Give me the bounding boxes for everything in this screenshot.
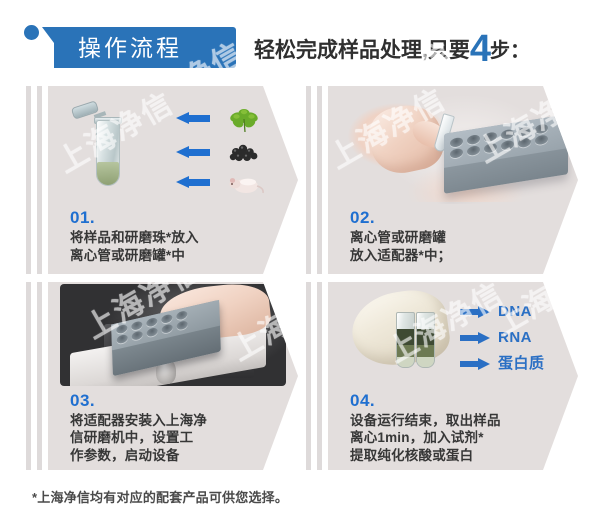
step-card-body: 上海净信 上海净信 03. 将适配器安装入上海净 信研磨机中，设置工 作参数，启… <box>48 282 298 470</box>
card-accent-bar <box>306 86 311 274</box>
step-text-04: 04. 设备运行结束，取出样品 离心1min，加入试剂* 提取纯化核酸或蛋白 <box>350 391 565 465</box>
arrow-left-icon <box>176 112 210 125</box>
card-accent-bar <box>26 282 31 470</box>
step-number: 03. <box>70 391 285 411</box>
step-number: 01. <box>70 208 285 228</box>
output-label: RNA <box>498 328 532 348</box>
output-label: 蛋白质 <box>498 354 545 374</box>
header-tagline: 轻松完成样品处理,只要4步： <box>254 30 530 70</box>
arrow-right-icon <box>460 358 490 370</box>
ribbon-dot-icon <box>24 25 39 40</box>
arrow-left-icon <box>176 176 210 189</box>
arrow-right-icon <box>460 306 490 318</box>
step-card-01: 上海净信 01. 将样品和研磨珠*放入 离心管或研磨罐*中 <box>26 86 298 274</box>
ribbon-title: 操作流程 <box>78 31 228 65</box>
adapter-holes <box>450 119 562 165</box>
card-accent-bar <box>317 282 322 470</box>
card-accent-bar <box>317 86 322 274</box>
card-accent-bar <box>37 282 42 470</box>
leaf-sample-icon <box>224 105 264 133</box>
step-media-02: 上海净信 上海净信 <box>328 86 578 204</box>
tube-liquid-icon <box>97 162 119 185</box>
step-card-03: 上海净信 上海净信 03. 将适配器安装入上海净 信研磨机中，设置工 作参数，启… <box>26 282 298 470</box>
tagline-step-count: 4 <box>470 28 490 70</box>
tagline-prefix: 轻松完成样品处理,只要 <box>254 39 470 62</box>
step-card-04: DNA RNA 蛋白质 上海净信 上海净信 04. 设备运行结束，取出样品 离心… <box>306 282 578 470</box>
step-card-02: 上海净信 上海净信 02. 离心管或研磨罐 放入适配器*中； <box>306 86 578 274</box>
step-text-02: 02. 离心管或研磨罐 放入适配器*中； <box>350 208 565 264</box>
centrifuge-tube-icon <box>88 102 128 194</box>
step-description: 设备运行结束，取出样品 离心1min，加入试剂* 提取纯化核酸或蛋白 <box>350 412 565 465</box>
step-text-01: 01. 将样品和研磨珠*放入 离心管或研磨罐*中 <box>70 208 285 264</box>
card-accent-bar <box>37 86 42 274</box>
adapter-top-face <box>444 114 568 168</box>
arrow-right-icon <box>460 332 490 344</box>
step-media-04: DNA RNA 蛋白质 上海净信 上海净信 <box>328 282 578 386</box>
sample-row-mouse <box>176 170 286 196</box>
installing-adapter-into-grinder-photo <box>60 284 286 386</box>
step-media-03: 上海净信 上海净信 <box>48 282 298 386</box>
adapter-block-icon <box>444 114 568 194</box>
step-description: 将适配器安装入上海净 信研磨机中，设置工 作参数，启动设备 <box>70 412 285 465</box>
card-accent-bar <box>306 282 311 470</box>
output-label: DNA <box>498 302 532 322</box>
step-description: 将样品和研磨珠*放入 离心管或研磨罐*中 <box>70 229 285 264</box>
mouse-sample-icon <box>224 169 264 197</box>
footer-note: *上海净信均有对应的配套产品可供您选择。 <box>32 487 288 506</box>
result-tube-icon <box>416 312 435 368</box>
step-card-body: 上海净信 01. 将样品和研磨珠*放入 离心管或研磨罐*中 <box>48 86 298 274</box>
page-header: 操作流程 轻松完成样品处理,只要4步： 上海净信 上海净信 <box>0 0 600 86</box>
card-accent-bar <box>26 86 31 274</box>
sample-row-beads <box>176 140 286 166</box>
step-description: 离心管或研磨罐 放入适配器*中； <box>350 229 565 264</box>
beads-sample-icon <box>224 139 264 167</box>
steps-grid: 上海净信 01. 将样品和研磨珠*放入 离心管或研磨罐*中 <box>0 86 600 470</box>
arrow-left-icon <box>176 146 210 159</box>
step-number: 02. <box>350 208 565 228</box>
step-number: 04. <box>350 391 565 411</box>
hand-loading-adapter-photo <box>346 92 561 202</box>
step-text-03: 03. 将适配器安装入上海净 信研磨机中，设置工 作参数，启动设备 <box>70 391 285 465</box>
sample-row-leaf <box>176 106 286 132</box>
step-media-01: 上海净信 <box>48 86 298 204</box>
result-tube-icon <box>396 312 415 368</box>
tagline-suffix: 步： <box>490 40 530 62</box>
step-card-body: DNA RNA 蛋白质 上海净信 上海净信 04. 设备运行结束，取出样品 离心… <box>328 282 578 470</box>
step-card-body: 上海净信 上海净信 02. 离心管或研磨罐 放入适配器*中； <box>328 86 578 274</box>
